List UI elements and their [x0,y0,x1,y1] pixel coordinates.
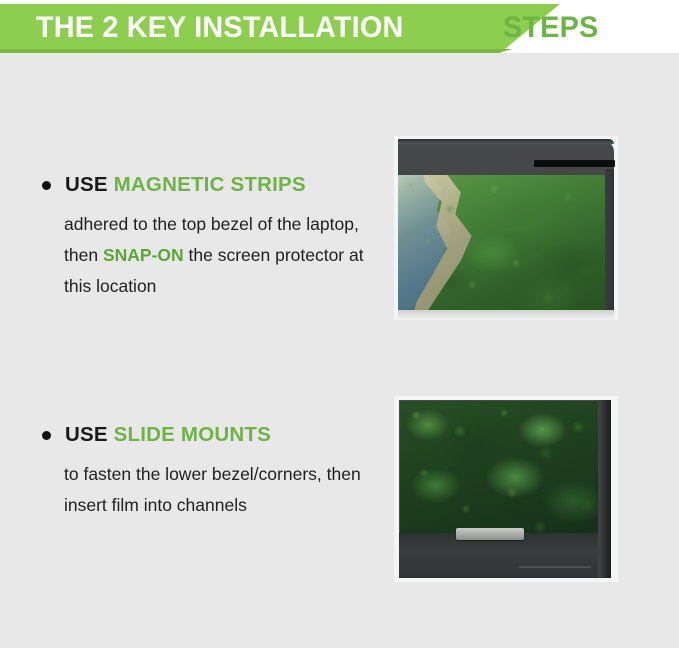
step-1-body-strong: SNAP-ON [103,245,184,265]
step-1-heading-highlight: MAGNETIC STRIPS [114,173,306,196]
step-1-image [394,136,618,320]
step-2-heading-prefix: USE [65,423,114,446]
laptop-right-bezel-2 [598,400,611,578]
step-1-heading-prefix: USE [65,173,114,196]
step-2-heading: USE SLIDE MOUNTS [38,422,378,448]
header-divider [0,53,679,56]
slide-mount-bottom-icon [456,528,524,540]
hinge-line [519,566,591,568]
step-2-heading-highlight: SLIDE MOUNTS [114,423,271,446]
bullet-icon [42,181,51,190]
installation-steps-infographic: THE 2 KEY INSTALLATION STEPS USE MAGNETI… [0,0,679,648]
step-2-text: USE SLIDE MOUNTS to fasten the lower bez… [38,422,378,521]
step-2-image [394,396,618,582]
page-title-accent: STEPS [503,11,598,45]
header-banner: THE 2 KEY INSTALLATION STEPS [0,0,679,56]
laptop-lower-bezel [399,400,611,578]
forest-river-photo [398,175,605,316]
dense-forest-photo [400,401,598,533]
step-1-heading: USE MAGNETIC STRIPS [38,172,378,198]
step-2-body-part-1: to fasten the lower bezel/corners, then … [64,464,361,515]
step-1-body: adhered to the top bezel of the laptop, … [38,209,378,302]
step-1-text: USE MAGNETIC STRIPS adhered to the top b… [38,172,378,302]
laptop-screen-1 [398,175,605,316]
bullet-icon [42,431,51,440]
laptop-base-edge-1 [398,310,614,320]
page-title: THE 2 KEY INSTALLATION [36,11,403,45]
magnetic-strip-icon [534,160,615,167]
tree-canopy-texture [400,401,598,533]
tree-canopy-texture [398,175,605,316]
laptop-screen-2 [400,401,598,533]
laptop-right-bezel-1 [605,169,614,319]
step-2-body: to fasten the lower bezel/corners, then … [38,459,378,521]
laptop-lid-edge [398,139,614,144]
laptop-top-bezel [398,139,614,320]
